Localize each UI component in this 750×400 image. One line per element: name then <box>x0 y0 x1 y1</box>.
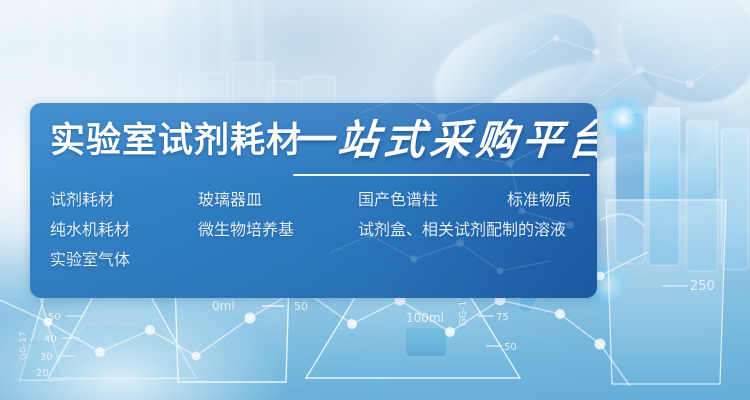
headline-primary-text: 实验室试剂耗材 <box>50 119 302 163</box>
headline-underline-rule <box>293 174 590 176</box>
category-item-reagent-consumables[interactable]: 试剂耗材 <box>50 191 114 211</box>
headline-row: 实验室试剂耗材 一站式采购平台 <box>40 117 597 169</box>
category-item-reference-materials[interactable]: 标准物质 <box>507 191 571 211</box>
category-item-microbial-culture-media[interactable]: 微生物培养基 <box>198 221 294 241</box>
category-item-domestic-chromatography-column[interactable]: 国产色谱柱 <box>358 191 438 211</box>
category-item-laboratory-gases[interactable]: 实验室气体 <box>50 251 130 271</box>
promo-banner: GG-17 50 40 30 20 GG-17 <box>0 0 750 400</box>
category-item-glassware[interactable]: 玻璃器皿 <box>198 191 262 211</box>
headline-calligraphy-text: 一站式采购平台 <box>290 115 597 165</box>
category-item-water-purifier-consumables[interactable]: 纯水机耗材 <box>50 221 130 241</box>
headline-panel: 实验室试剂耗材 一站式采购平台 试剂耗材 玻璃器皿 国产色谱柱 标准物质 纯水机… <box>30 103 597 298</box>
category-list: 试剂耗材 玻璃器皿 国产色谱柱 标准物质 纯水机耗材 微生物培养基 试剂盒、相关… <box>40 191 597 291</box>
category-item-reagent-kits-solutions[interactable]: 试剂盒、相关试剂配制的溶液 <box>358 221 566 241</box>
